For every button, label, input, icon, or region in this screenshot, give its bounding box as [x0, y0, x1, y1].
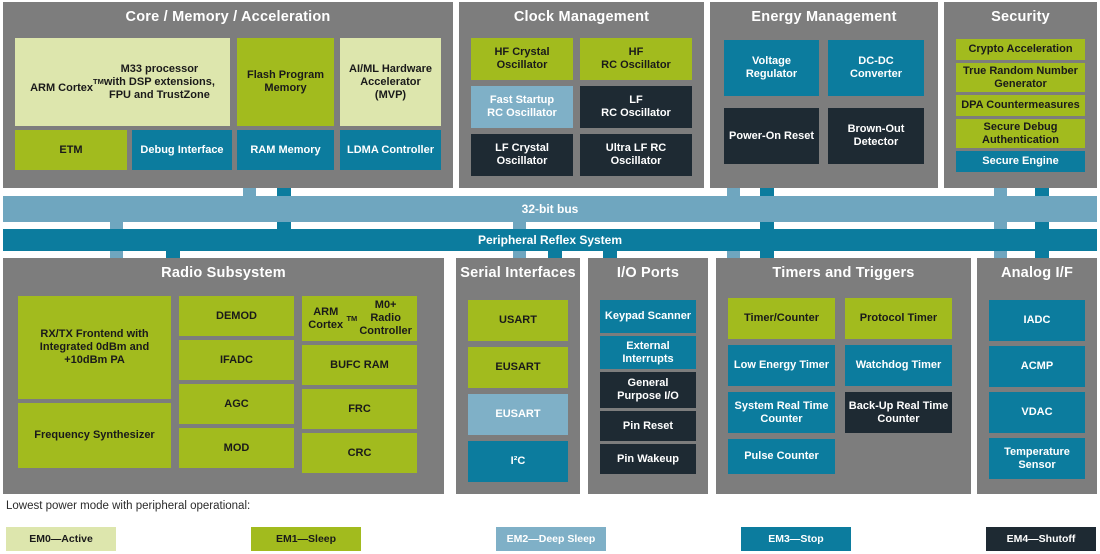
bus-32bit: 32-bit bus — [3, 196, 1097, 222]
legend-item-em4-shutoff: EM4—Shutoff — [986, 527, 1096, 551]
block-pulse-counter[interactable]: Pulse Counter — [728, 439, 835, 474]
block-eusart-em1[interactable]: EUSART — [468, 347, 568, 388]
block-frequency-synthesizer[interactable]: Frequency Synthesizer — [18, 403, 171, 468]
block-crypto-acceleration[interactable]: Crypto Acceleration — [956, 39, 1085, 60]
panel-title-radio-subsystem: Radio Subsystem — [3, 264, 444, 282]
block-arm-cortex-m33[interactable]: ARM CortexTM M33 processor with DSP exte… — [15, 38, 230, 126]
block-vdac[interactable]: VDAC — [989, 392, 1085, 433]
block-secure-engine[interactable]: Secure Engine — [956, 151, 1085, 172]
legend-item-em3-stop: EM3—Stop — [741, 527, 851, 551]
block-arm-cortex-m0-radio-controller[interactable]: ARM CortexTM M0+ Radio Controller — [302, 296, 417, 341]
bus-peripheral-reflex-system: Peripheral Reflex System — [3, 229, 1097, 251]
block-brown-out-detector[interactable]: Brown-Out Detector — [828, 108, 924, 164]
panel-title-serial-interfaces: Serial Interfaces — [456, 264, 580, 282]
panel-timers-and-triggers: Timers and Triggers Timer/Counter Protoc… — [716, 258, 971, 494]
panel-title-clock-management: Clock Management — [459, 8, 704, 26]
block-i2c[interactable]: I²C — [468, 441, 568, 482]
block-hf-crystal-oscillator[interactable]: HF Crystal Oscillator — [471, 38, 573, 80]
block-dc-dc-converter[interactable]: DC-DC Converter — [828, 40, 924, 96]
block-demod[interactable]: DEMOD — [179, 296, 294, 336]
panel-energy-management: Energy Management Voltage Regulator DC-D… — [710, 2, 938, 188]
block-general-purpose-io[interactable]: General Purpose I/O — [600, 372, 696, 408]
block-eusart-em2[interactable]: EUSART — [468, 394, 568, 435]
block-aiml-hardware-accelerator[interactable]: AI/ML Hardware Accelerator (MVP) — [340, 38, 441, 126]
block-crc[interactable]: CRC — [302, 433, 417, 473]
panel-radio-subsystem: Radio Subsystem RX/TX Frontend with Inte… — [3, 258, 444, 494]
block-ldma-controller[interactable]: LDMA Controller — [340, 130, 441, 170]
block-rx-tx-frontend[interactable]: RX/TX Frontend with Integrated 0dBm and … — [18, 296, 171, 399]
panel-body-timers-and-triggers: Timer/Counter Protocol Timer Low Energy … — [728, 290, 959, 483]
block-external-interrupts[interactable]: External Interrupts — [600, 336, 696, 369]
panel-body-radio-subsystem: RX/TX Frontend with Integrated 0dBm and … — [15, 290, 432, 483]
block-lf-crystal-oscillator[interactable]: LF Crystal Oscillator — [471, 134, 573, 176]
block-bufc-ram[interactable]: BUFC RAM — [302, 345, 417, 385]
block-mod[interactable]: MOD — [179, 428, 294, 468]
block-true-random-number-generator[interactable]: True Random Number Generator — [956, 63, 1085, 92]
panel-title-security: Security — [944, 8, 1097, 26]
panel-analog-if: Analog I/F IADC ACMP VDAC Temperature Se… — [977, 258, 1097, 494]
block-ifadc[interactable]: IFADC — [179, 340, 294, 380]
block-watchdog-timer[interactable]: Watchdog Timer — [845, 345, 952, 386]
block-debug-interface[interactable]: Debug Interface — [132, 130, 232, 170]
panel-serial-interfaces: Serial Interfaces USART EUSART EUSART I²… — [456, 258, 580, 494]
block-lf-rc-oscillator[interactable]: LF RC Oscillator — [580, 86, 692, 128]
panel-body-serial-interfaces: USART EUSART EUSART I²C — [468, 290, 568, 483]
bus-32bit-label: 32-bit bus — [522, 202, 579, 216]
panel-io-ports: I/O Ports Keypad Scanner External Interr… — [588, 258, 708, 494]
block-flash-program-memory[interactable]: Flash Program Memory — [237, 38, 334, 126]
block-protocol-timer[interactable]: Protocol Timer — [845, 298, 952, 339]
legend-item-em0-active: EM0—Active — [6, 527, 116, 551]
panel-title-analog-if: Analog I/F — [977, 264, 1097, 282]
block-diagram-canvas: Core / Memory / Acceleration ARM CortexT… — [0, 0, 1100, 554]
block-power-on-reset[interactable]: Power-On Reset — [724, 108, 819, 164]
block-pin-reset[interactable]: Pin Reset — [600, 411, 696, 441]
block-temperature-sensor[interactable]: Temperature Sensor — [989, 438, 1085, 479]
block-hf-rc-oscillator[interactable]: HF RC Oscillator — [580, 38, 692, 80]
block-voltage-regulator[interactable]: Voltage Regulator — [724, 40, 819, 96]
block-pin-wakeup[interactable]: Pin Wakeup — [600, 444, 696, 474]
panel-security: Security Crypto Acceleration True Random… — [944, 2, 1097, 188]
panel-title-energy-management: Energy Management — [710, 8, 938, 26]
block-agc[interactable]: AGC — [179, 384, 294, 424]
panel-clock-management: Clock Management HF Crystal Oscillator H… — [459, 2, 704, 188]
panel-title-io-ports: I/O Ports — [588, 264, 708, 282]
block-etm[interactable]: ETM — [15, 130, 127, 170]
panel-title-core-memory-acceleration: Core / Memory / Acceleration — [3, 8, 453, 26]
block-usart[interactable]: USART — [468, 300, 568, 341]
bus-prs-label: Peripheral Reflex System — [478, 233, 622, 247]
legend-item-em2-deep-sleep: EM2—Deep Sleep — [496, 527, 606, 551]
block-backup-real-time-counter[interactable]: Back-Up Real Time Counter — [845, 392, 952, 433]
block-dpa-countermeasures[interactable]: DPA Countermeasures — [956, 95, 1085, 116]
panel-body-core-memory-acceleration: ARM CortexTM M33 processor with DSP exte… — [15, 34, 441, 177]
legend-item-em1-sleep: EM1—Sleep — [251, 527, 361, 551]
panel-body-analog-if: IADC ACMP VDAC Temperature Sensor — [989, 290, 1085, 483]
panel-body-energy-management: Voltage Regulator DC-DC Converter Power-… — [722, 34, 926, 177]
block-iadc[interactable]: IADC — [989, 300, 1085, 341]
block-ultra-lf-rc-oscillator[interactable]: Ultra LF RC Oscillator — [580, 134, 692, 176]
block-keypad-scanner[interactable]: Keypad Scanner — [600, 300, 696, 333]
panel-body-security: Crypto Acceleration True Random Number G… — [956, 34, 1085, 177]
block-system-real-time-counter[interactable]: System Real Time Counter — [728, 392, 835, 433]
panel-body-io-ports: Keypad Scanner External Interrupts Gener… — [600, 290, 696, 483]
legend-caption: Lowest power mode with peripheral operat… — [6, 500, 250, 512]
block-timer-counter[interactable]: Timer/Counter — [728, 298, 835, 339]
panel-core-memory-acceleration: Core / Memory / Acceleration ARM CortexT… — [3, 2, 453, 188]
block-low-energy-timer[interactable]: Low Energy Timer — [728, 345, 835, 386]
block-frc[interactable]: FRC — [302, 389, 417, 429]
block-ram-memory[interactable]: RAM Memory — [237, 130, 334, 170]
panel-title-timers-and-triggers: Timers and Triggers — [716, 264, 971, 282]
panel-body-clock-management: HF Crystal Oscillator HF RC Oscillator F… — [471, 34, 692, 177]
block-fast-startup-rc-oscillator[interactable]: Fast Startup RC Oscillator — [471, 86, 573, 128]
block-acmp[interactable]: ACMP — [989, 346, 1085, 387]
block-secure-debug-authentication[interactable]: Secure Debug Authentication — [956, 119, 1085, 148]
